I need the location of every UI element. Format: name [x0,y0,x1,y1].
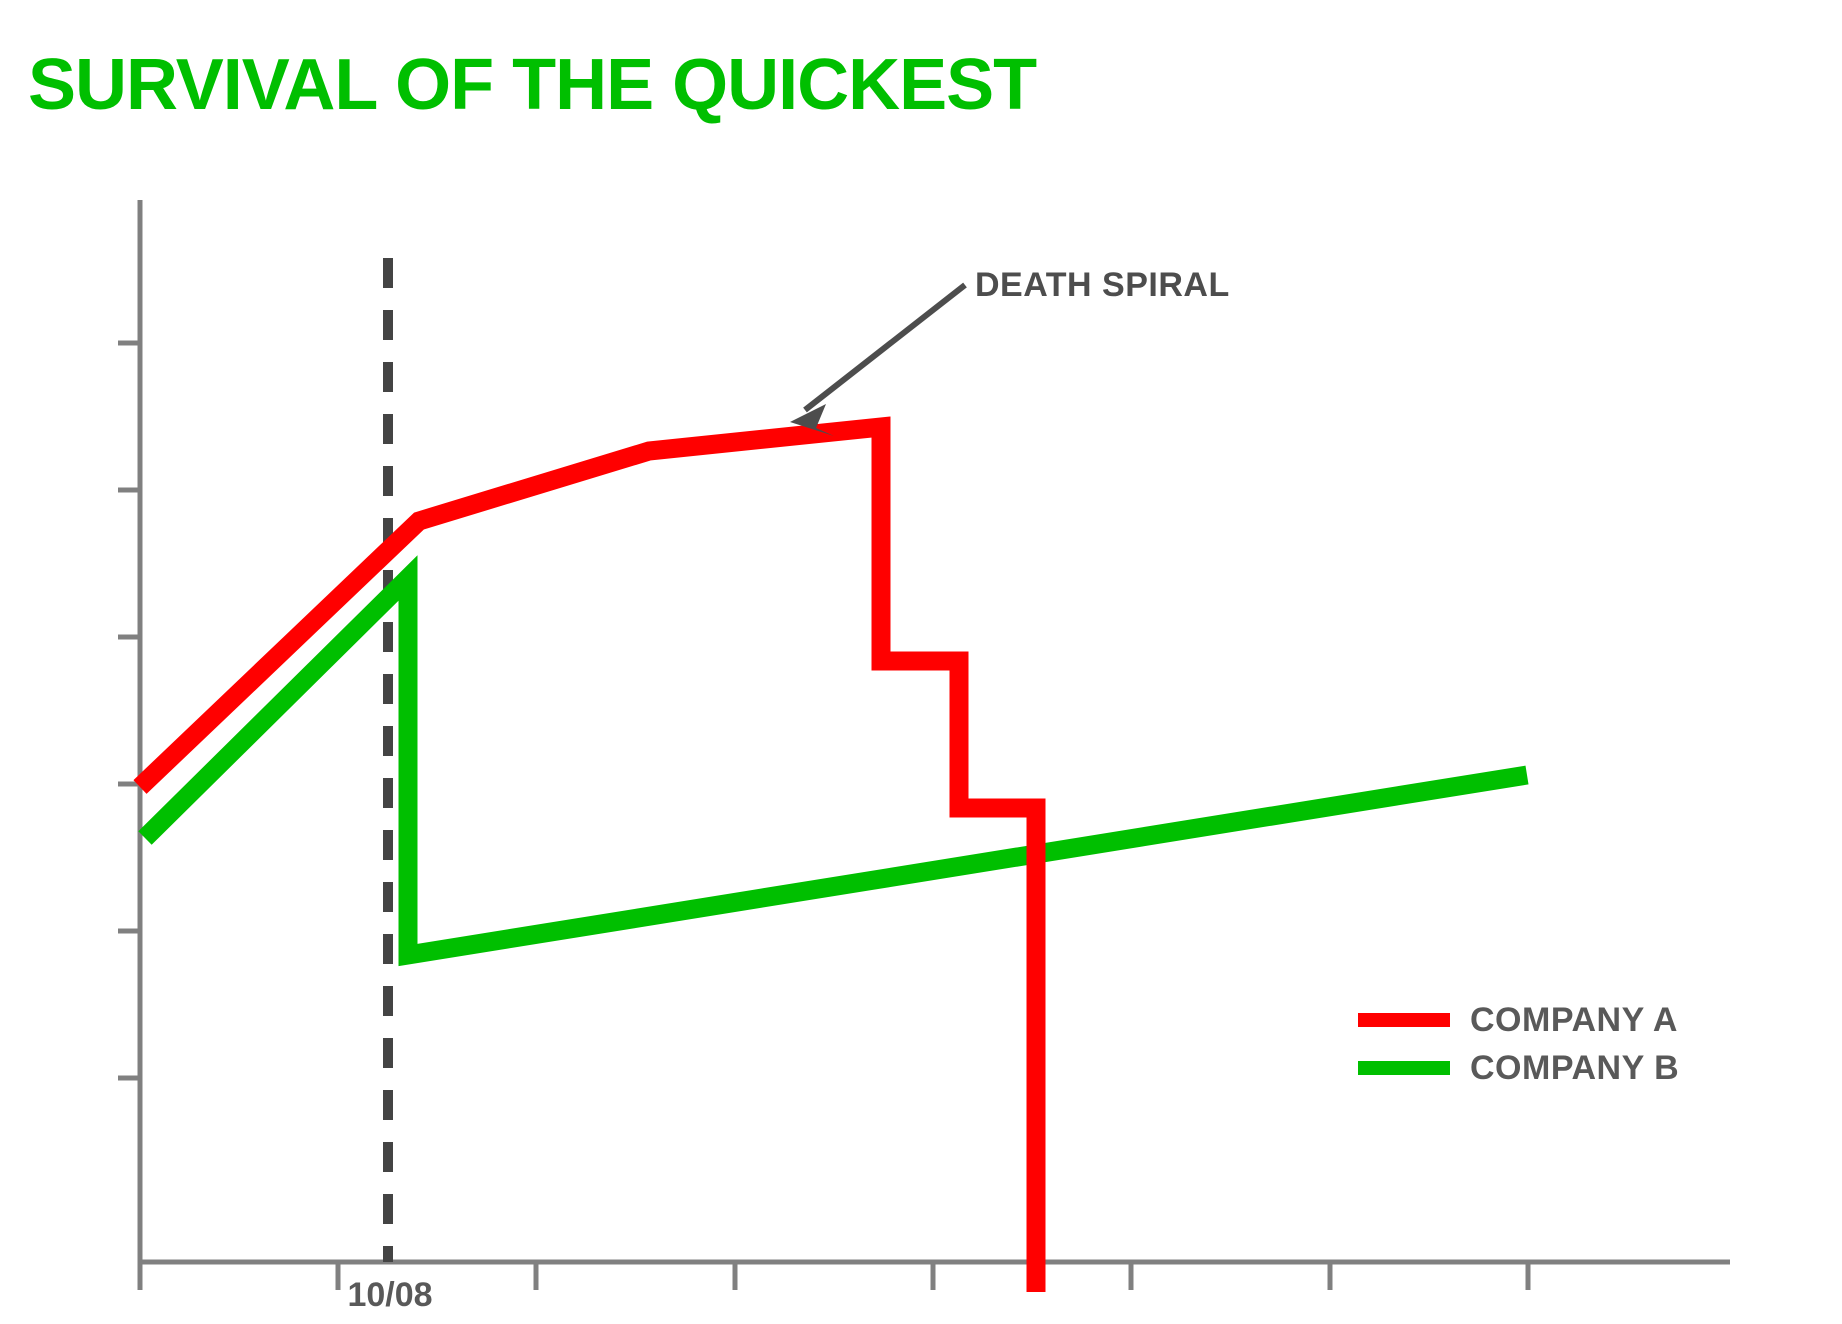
legend-swatch-icon-company-b [1358,1061,1450,1075]
slide-canvas: SURVIVAL OF THE QUICKEST [0,0,1842,1324]
axis-group [140,200,1730,1262]
annotation-arrow [790,285,965,436]
annotation-label-death-spiral: DEATH SPIRAL [975,266,1230,305]
y-axis-ticks [118,343,140,1078]
series-line-company-b [145,578,1527,955]
legend-label-company-b: COMPANY B [1470,1049,1679,1088]
legend-label-company-a: COMPANY A [1470,1001,1678,1040]
legend-item-company-b: COMPANY B [1358,1048,1679,1088]
chart-legend: COMPANY A COMPANY B [1358,1000,1679,1088]
x-axis-tick-label: 10/08 [290,1276,490,1315]
legend-swatch-icon-company-a [1358,1013,1450,1027]
y-axis-title: EXPENSES [0,420,8,720]
legend-item-company-a: COMPANY A [1358,1000,1679,1040]
annotation-arrow-shaft [805,285,965,410]
chart-svg [0,0,1842,1324]
series-line-company-a [140,427,1036,1292]
chart-plot-area [0,0,1842,1324]
